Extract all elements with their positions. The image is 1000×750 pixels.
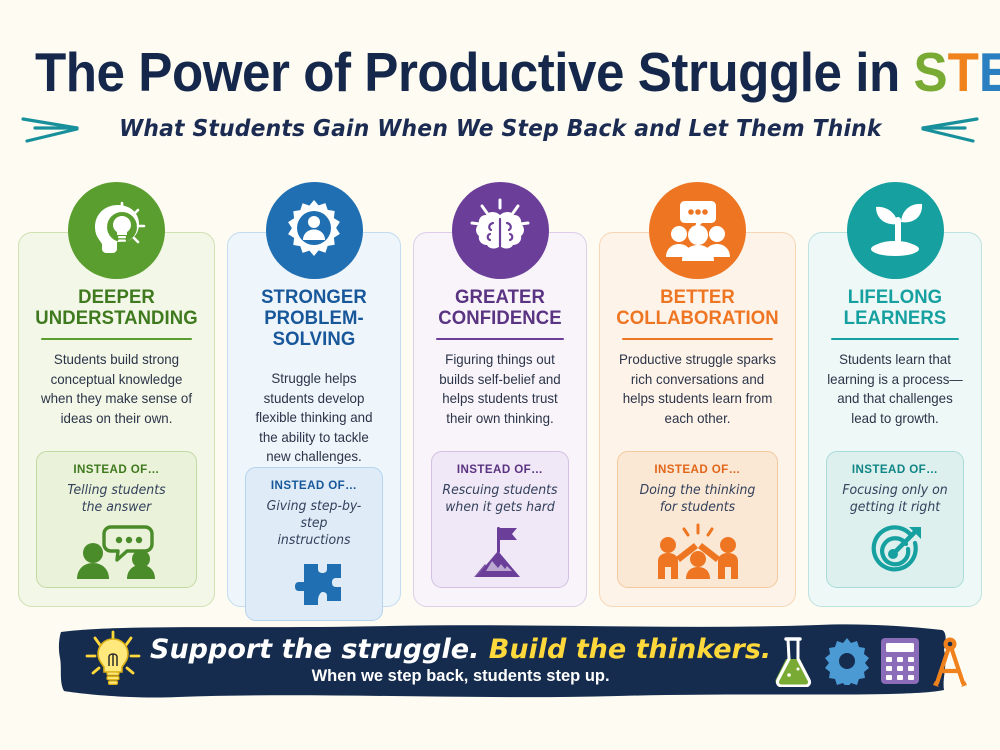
gear-person-icon xyxy=(266,182,363,279)
instead-of-box: INSTEAD OF… Doing the thinking for stude… xyxy=(617,451,778,588)
subtitle: What Students Gain When We Step Back and… xyxy=(119,116,882,142)
instead-of-label: INSTEAD OF… xyxy=(43,463,190,476)
card-title-line2: COLLABORATION xyxy=(616,307,778,329)
instead-text-line2: instructions xyxy=(277,533,350,548)
card-title: BETTER COLLABORATION xyxy=(614,287,780,329)
gear-icon xyxy=(824,637,870,685)
infographic-poster: The Power of Productive Struggle in STEM… xyxy=(0,0,1000,750)
card-body: Figuring things out builds self-belief a… xyxy=(426,340,575,428)
banner-headline-accent: Build the thinkers. xyxy=(489,634,771,665)
instead-of-text: Telling students the answer xyxy=(46,482,187,516)
stem-letter-s: S xyxy=(913,41,947,103)
card-title-line2: CONFIDENCE xyxy=(438,307,561,329)
instead-of-text: Rescuing students when it gets hard xyxy=(440,482,559,516)
instead-text-line2: when it gets hard xyxy=(445,500,555,515)
banner-content: Support the struggle. Build the thinkers… xyxy=(58,620,948,702)
card-title-line1: BETTER xyxy=(660,286,735,308)
card-title: GREATER CONFIDENCE xyxy=(428,287,572,329)
card-body: Struggle helps students develop flexible… xyxy=(240,359,389,467)
instead-of-box: INSTEAD OF… Focusing only on getting it … xyxy=(826,451,964,588)
mountain-flag-icon xyxy=(438,523,562,579)
instead-of-label: INSTEAD OF… xyxy=(438,463,562,476)
page-title: The Power of Productive Struggle in STEM xyxy=(35,42,965,102)
card-body: Students learn that learning is a proces… xyxy=(821,340,970,428)
flask-icon xyxy=(771,635,815,687)
card-greater-confidence[interactable]: GREATER CONFIDENCE Figuring things out b… xyxy=(413,232,587,607)
banner-text: Support the struggle. Build the thinkers… xyxy=(150,634,771,689)
stem-letter-t: T xyxy=(948,41,979,103)
instead-of-label: INSTEAD OF… xyxy=(252,479,376,492)
two-people-speech-bubble-icon xyxy=(43,523,190,579)
header: The Power of Productive Struggle in STEM… xyxy=(0,42,1000,146)
card-body: Productive struggle sparks rich conversa… xyxy=(612,340,784,428)
lightbulb-icon xyxy=(76,630,150,692)
head-lightbulb-icon xyxy=(68,182,165,279)
subtitle-row: What Students Gain When We Step Back and… xyxy=(0,112,1000,146)
instead-text-line1: Focusing only on xyxy=(842,483,947,498)
card-title: STRONGER PROBLEM-SOLVING xyxy=(242,287,386,350)
sprout-growth-icon xyxy=(847,182,944,279)
card-title-line1: STRONGER xyxy=(261,286,367,308)
card-title-line2: LEARNERS xyxy=(844,307,947,329)
bottom-banner: Support the struggle. Build the thinkers… xyxy=(58,620,948,702)
card-lifelong-learners[interactable]: LIFELONG LEARNERS Students learn that le… xyxy=(808,232,982,607)
card-stronger-problem-solving[interactable]: STRONGER PROBLEM-SOLVING Struggle helps … xyxy=(227,232,401,607)
card-title-line1: GREATER xyxy=(455,286,545,308)
calculator-icon xyxy=(879,636,921,686)
flourish-left-icon xyxy=(21,112,83,146)
banner-headline: Support the struggle. Build the thinkers… xyxy=(150,634,771,666)
card-body: Students build strong conceptual knowled… xyxy=(31,340,203,428)
puzzle-piece-icon xyxy=(252,556,376,612)
card-title: DEEPER UNDERSTANDING xyxy=(33,287,199,329)
brain-idea-icon xyxy=(452,182,549,279)
stem-letter-e: E xyxy=(979,41,1000,103)
card-better-collaboration[interactable]: BETTER COLLABORATION Productive struggle… xyxy=(599,232,796,607)
instead-text-line2: getting it right xyxy=(850,500,940,515)
instead-text-line1: Doing the thinking xyxy=(640,483,756,498)
card-title-line1: DEEPER xyxy=(78,286,155,308)
instead-of-box: INSTEAD OF… Giving step-by-step instruct… xyxy=(245,467,383,621)
card-deeper-understanding[interactable]: DEEPER UNDERSTANDING Students build stro… xyxy=(18,232,215,607)
instead-of-label: INSTEAD OF… xyxy=(624,463,771,476)
card-title-line2: PROBLEM-SOLVING xyxy=(264,307,364,350)
card-title-line2: UNDERSTANDING xyxy=(35,307,197,329)
card-title-line1: LIFELONG xyxy=(848,286,942,308)
banner-stem-icons xyxy=(771,635,986,687)
banner-headline-white: Support the struggle. xyxy=(150,634,489,665)
instead-text-line1: Telling students xyxy=(67,483,165,498)
compass-icon xyxy=(930,635,970,687)
instead-of-box: INSTEAD OF… Telling students the answer xyxy=(36,451,197,588)
instead-of-text: Focusing only on getting it right xyxy=(835,482,954,516)
flourish-right-icon xyxy=(917,112,979,146)
benefit-cards-row: DEEPER UNDERSTANDING Students build stro… xyxy=(18,232,982,607)
instead-text-line1: Rescuing students xyxy=(442,483,557,498)
instead-of-box: INSTEAD OF… Rescuing students when it ge… xyxy=(431,451,569,588)
card-title: LIFELONG LEARNERS xyxy=(823,287,967,329)
instead-of-text: Doing the thinking for students xyxy=(627,482,768,516)
banner-subline: When we step back, students step up. xyxy=(150,666,771,687)
instead-of-label: INSTEAD OF… xyxy=(833,463,957,476)
instead-of-text: Giving step-by-step instructions xyxy=(255,498,374,549)
group-conversation-icon xyxy=(649,182,746,279)
instead-text-line2: for students xyxy=(660,500,735,515)
target-arrow-icon xyxy=(833,523,957,579)
high-five-group-icon xyxy=(624,523,771,579)
instead-text-line2: the answer xyxy=(82,500,152,515)
instead-text-line1: Giving step-by-step xyxy=(267,499,362,531)
title-prefix: The Power of Productive Struggle in xyxy=(35,41,913,103)
